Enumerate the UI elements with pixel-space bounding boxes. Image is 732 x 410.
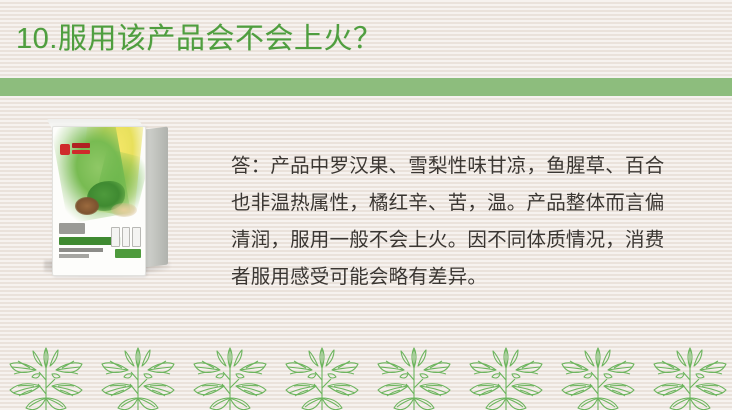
leaf-motif-icon	[460, 336, 552, 410]
package-product-name-en-second	[59, 254, 89, 258]
answer-text-block: 答：产品中罗汉果、雪梨性味甘凉，鱼腥草、百合 也非温热属性，橘红辛、苦，温。产品…	[231, 148, 683, 296]
package-product-name-en	[59, 248, 103, 252]
title-bar: 10.服用该产品会不会上火？	[0, 0, 732, 78]
package-category-badge	[59, 223, 85, 234]
leaf-motif-icon	[184, 336, 276, 410]
package-quantity-badge	[115, 249, 141, 258]
answer-line: 答：产品中罗汉果、雪梨性味甘凉，鱼腥草、百合	[231, 148, 683, 185]
green-divider	[0, 78, 732, 96]
artwork-herb-root	[75, 197, 99, 215]
leaf-motif-icon	[552, 336, 644, 410]
leaf-motif-icon	[368, 336, 460, 410]
package-icon-3	[132, 227, 141, 247]
leaf-motif-icon	[92, 336, 184, 410]
leaf-motif-icon	[644, 336, 732, 410]
package-icon-2	[122, 227, 131, 247]
brand-logo-mark	[60, 144, 70, 155]
leaf-motif-icon	[0, 336, 92, 410]
package-icon-strip	[111, 227, 141, 245]
artwork-herb-granules	[111, 203, 137, 217]
product-package-image	[30, 118, 180, 286]
answer-line: 也非温热属性，橘红辛、苦，温。产品整体而言偏	[231, 185, 683, 222]
package-icon-1	[111, 227, 120, 247]
brand-logo	[60, 143, 90, 156]
slide-canvas: 10.服用该产品会不会上火？	[0, 0, 732, 410]
page-title: 10.服用该产品会不会上火？	[16, 21, 382, 57]
leaf-motif-icon	[276, 336, 368, 410]
answer-line: 者服用感受可能会略有差异。	[231, 259, 683, 296]
answer-line: 清润，服用一般不会上火。因不同体质情况，消费	[231, 222, 683, 259]
package-front-panel	[52, 126, 146, 276]
brand-logo-subwordmark	[72, 150, 90, 154]
brand-logo-wordmark	[72, 143, 90, 148]
bottom-leaf-border	[0, 336, 732, 410]
